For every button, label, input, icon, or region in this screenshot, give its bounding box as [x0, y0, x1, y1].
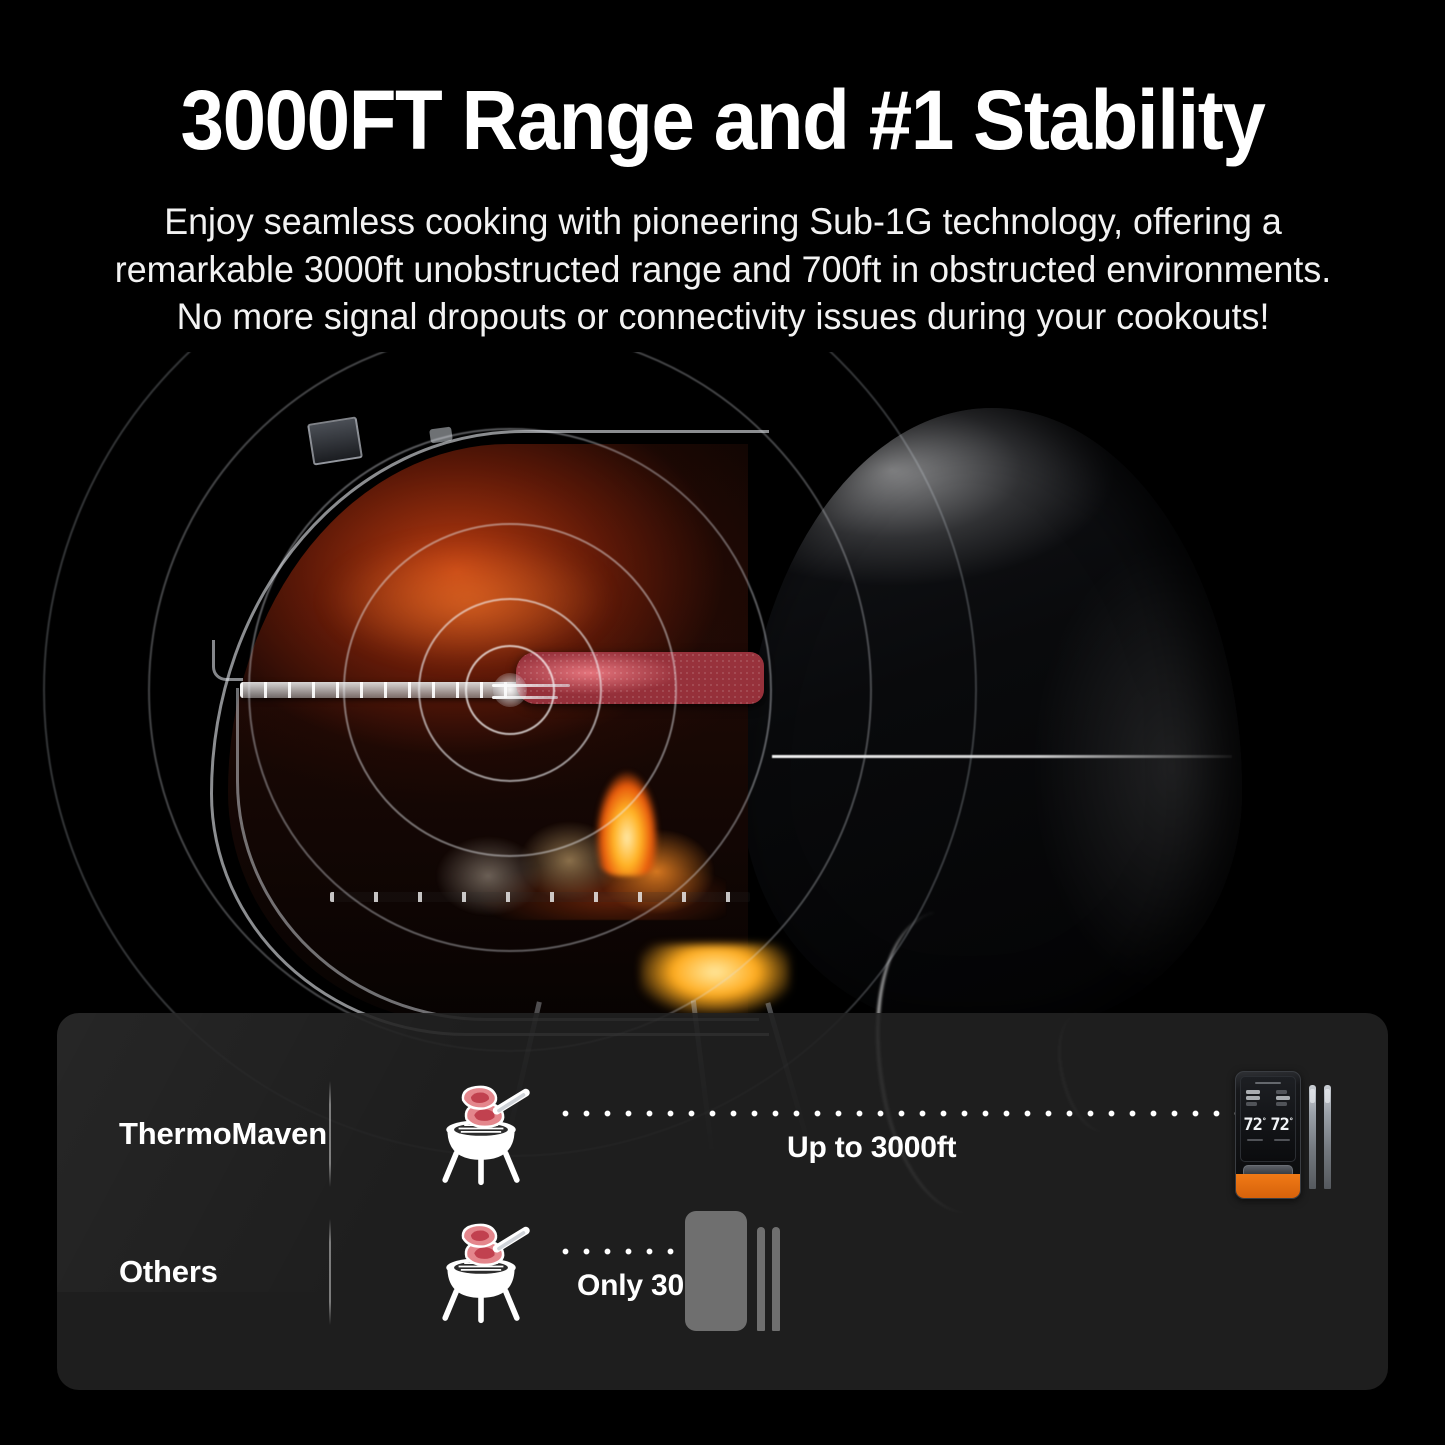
degree-symbol-icon: ° — [1289, 1116, 1293, 1125]
probe-icon — [772, 1227, 780, 1331]
device-temperature-readouts: 72° 72° — [1241, 1117, 1295, 1134]
grill-steak-probe-icon — [425, 1215, 537, 1327]
device-temp-right: 72° — [1270, 1117, 1292, 1134]
device-sub-label — [1247, 1139, 1263, 1141]
generic-probes — [757, 1227, 787, 1331]
generic-receiver-device — [685, 1211, 747, 1331]
device-status-bar — [1255, 1082, 1281, 1084]
thermomaven-probes — [1309, 1085, 1339, 1189]
page-title: 3000FT Range and #1 Stability — [51, 78, 1395, 162]
probe-icon — [1324, 1085, 1331, 1189]
device-screen: 72° 72° — [1240, 1076, 1296, 1162]
range-comparison-panel: ThermoMaven — [57, 1013, 1388, 1390]
row-divider — [329, 1081, 331, 1187]
device-sub-label — [1274, 1139, 1290, 1141]
device-sub-labels — [1241, 1139, 1295, 1141]
device-indicator-pills — [1246, 1090, 1290, 1106]
row-label-others: Others — [119, 1254, 329, 1290]
row-label-thermomaven: ThermoMaven — [119, 1116, 329, 1152]
device-pill — [1246, 1102, 1257, 1106]
degree-symbol-icon: ° — [1262, 1116, 1266, 1125]
range-dotted-line-long — [555, 1109, 1273, 1118]
device-pill — [1246, 1096, 1260, 1100]
thermomaven-receiver-device: 72° 72° ThermoMaven — [1235, 1071, 1301, 1199]
lid-hook-icon — [212, 640, 243, 681]
range-label-thermomaven: Up to 3000ft — [787, 1131, 956, 1165]
comparison-row-thermomaven: ThermoMaven — [57, 1065, 1388, 1203]
device-pill — [1276, 1090, 1287, 1094]
product-feature-page: 3000FT Range and #1 Stability Enjoy seam… — [0, 0, 1445, 1445]
lid-nub-icon — [429, 427, 453, 444]
comparison-row-others: Others — [57, 1203, 1388, 1341]
device-orange-base — [1235, 1174, 1301, 1199]
row-divider — [329, 1219, 331, 1325]
lid-vent-icon — [307, 416, 363, 465]
device-pill — [1276, 1102, 1287, 1106]
device-temp-left-value: 72 — [1243, 1115, 1261, 1135]
device-temp-left: 72° — [1243, 1117, 1265, 1134]
page-subtitle: Enjoy seamless cooking with pioneering S… — [87, 198, 1357, 341]
device-temp-right-value: 72 — [1270, 1115, 1288, 1135]
probe-icon — [1309, 1085, 1316, 1189]
device-pill — [1246, 1090, 1260, 1094]
grill-steak-probe-icon — [425, 1077, 537, 1189]
header: 3000FT Range and #1 Stability Enjoy seam… — [0, 0, 1445, 341]
device-pill — [1276, 1096, 1290, 1100]
probe-icon — [757, 1227, 765, 1331]
